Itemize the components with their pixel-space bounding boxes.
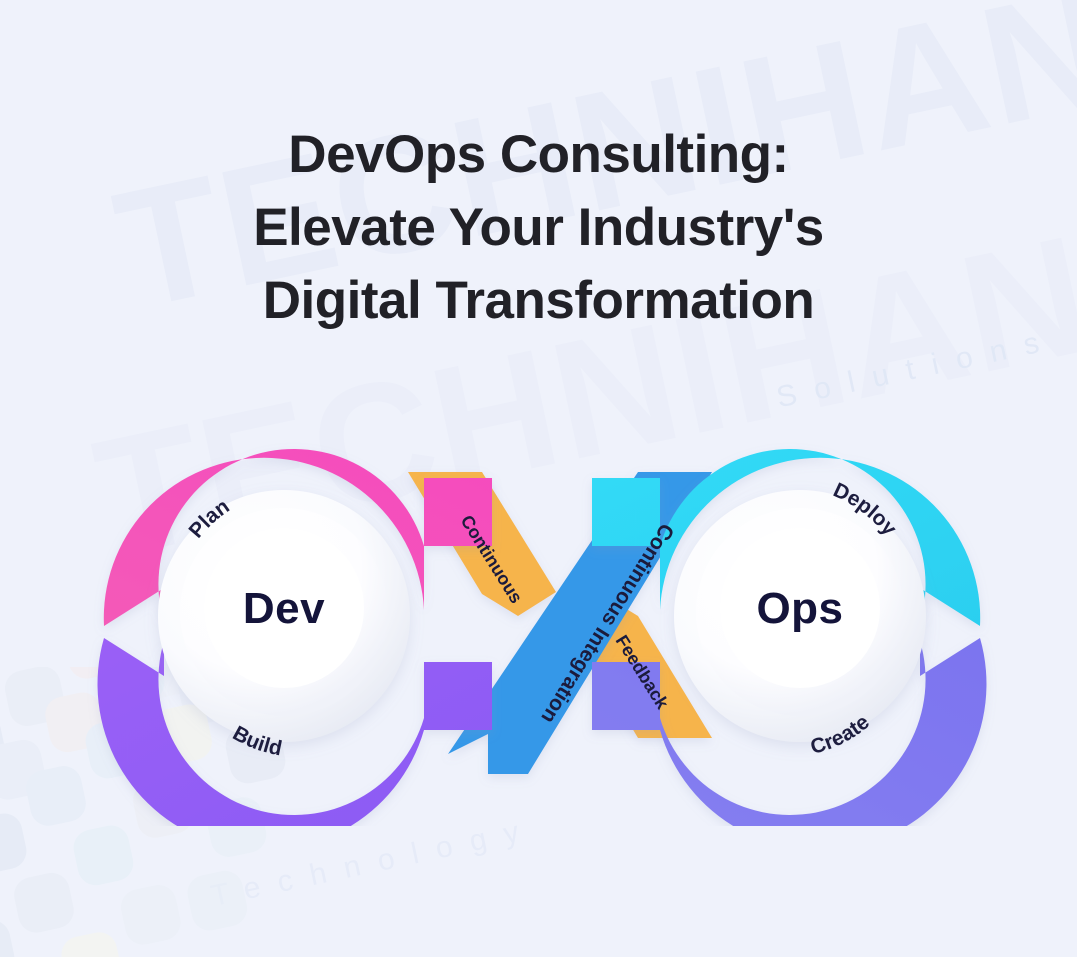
ops-loop: Ops (592, 449, 986, 826)
page-title-line-1: DevOps Consulting: (0, 118, 1077, 191)
page-title-line-2: Elevate Your Industry's (0, 191, 1077, 264)
page-title-line-3: Digital Transformation (0, 264, 1077, 337)
page-title: DevOps Consulting: Elevate Your Industry… (0, 118, 1077, 337)
dev-core-label: Dev (243, 584, 325, 633)
devops-infinity-diagram: Dev Ops Plan Build Deploy Create Continu (78, 404, 1006, 826)
ops-core-label: Ops (756, 584, 843, 633)
dev-loop: Dev (98, 449, 492, 826)
watermark-tagline-secondary: Technology (208, 812, 540, 914)
